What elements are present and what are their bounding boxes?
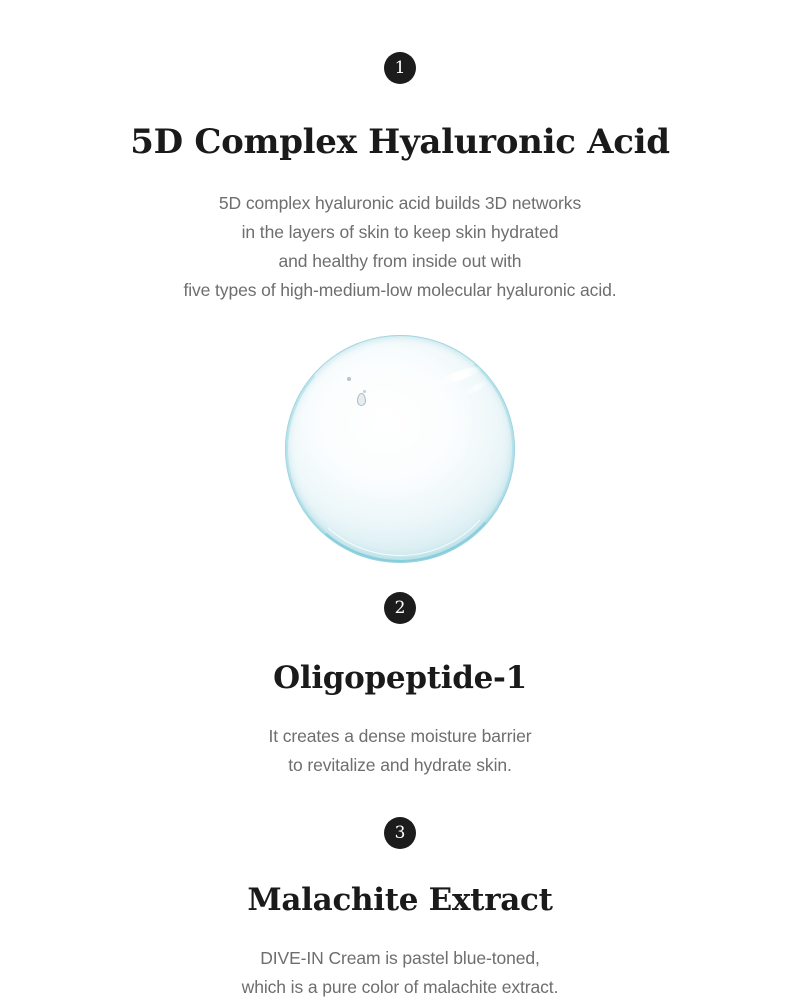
description-line: to revitalize and hydrate skin.	[288, 755, 512, 775]
description-line: which is a pure color of malachite extra…	[242, 977, 559, 997]
step-badge-2: 2	[384, 592, 416, 624]
step-badge-3: 3	[384, 817, 416, 849]
ingredient-section-2: 2 Oligopeptide-1 It creates a dense mois…	[0, 592, 800, 780]
description-line: in the layers of skin to keep skin hydra…	[242, 222, 559, 242]
description-line: DIVE-IN Cream is pastel blue-toned,	[260, 948, 540, 968]
ingredient-description-2: It creates a dense moisture barrier to r…	[268, 722, 531, 780]
ingredient-description-3: DIVE-IN Cream is pastel blue-toned, whic…	[242, 944, 559, 1002]
ingredient-section-3: 3 Malachite Extract DIVE-IN Cream is pas…	[0, 817, 800, 1002]
description-line: five types of high-medium-low molecular …	[183, 280, 616, 300]
droplet-bubble-dot	[347, 377, 351, 381]
ingredient-section-1: 1 5D Complex Hyaluronic Acid 5D complex …	[0, 52, 800, 563]
droplet-bubble-micro	[363, 390, 366, 393]
ingredient-heading-1: 5D Complex Hyaluronic Acid	[130, 122, 669, 162]
ingredient-heading-3: Malachite Extract	[247, 882, 552, 918]
step-badge-1: 1	[384, 52, 416, 84]
ingredient-heading-2: Oligopeptide-1	[273, 660, 527, 696]
ingredient-description-1: 5D complex hyaluronic acid builds 3D net…	[183, 189, 616, 305]
gel-droplet-image	[285, 335, 515, 563]
description-line: and healthy from inside out with	[279, 251, 522, 271]
ingredient-detail-page: 1 5D Complex Hyaluronic Acid 5D complex …	[0, 0, 800, 1000]
description-line: It creates a dense moisture barrier	[268, 726, 531, 746]
description-line: 5D complex hyaluronic acid builds 3D net…	[219, 193, 581, 213]
droplet-bubble-teardrop	[357, 393, 366, 406]
